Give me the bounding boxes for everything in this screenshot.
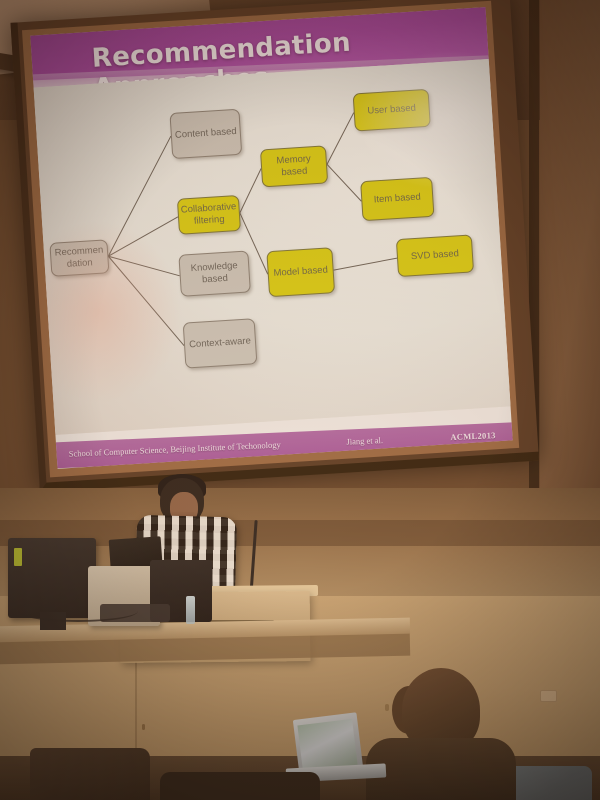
footer-authors: Jiang et al.: [346, 435, 383, 447]
footer-affiliation: School of Computer Science, Beijing Inst…: [68, 439, 280, 458]
seat-left: [30, 748, 150, 800]
diagram-node-model: Model based: [266, 247, 335, 297]
projection-screen: Recommendation Approaches Recommen datio…: [10, 0, 539, 492]
wall-screw: [142, 724, 145, 730]
footer-venue: ACML2013: [450, 430, 496, 442]
audience-body: [366, 738, 516, 800]
wall-outlet: [540, 690, 557, 702]
diagram-node-knowledge: Knowledge based: [178, 250, 250, 296]
desk-cable: [18, 600, 138, 622]
diagram-node-context: Context-aware: [183, 318, 258, 368]
diagram-node-recommendation: Recommen dation: [49, 239, 109, 277]
foreground-object: [160, 772, 320, 800]
diagram-node-memory: Memory based: [260, 145, 328, 187]
right-wall: [540, 0, 600, 500]
presentation-slide: Recommendation Approaches Recommen datio…: [30, 7, 512, 469]
diagram-node-item: Item based: [360, 177, 434, 221]
wall-screw: [385, 704, 389, 711]
diagram-node-svd: SVD based: [396, 234, 474, 277]
photo-scene: Recommendation Approaches Recommen datio…: [0, 0, 600, 800]
diagram-node-collaborative: Collaborative filtering: [177, 195, 241, 235]
audience-laptop-screen: [297, 719, 357, 771]
diagram-node-user: User based: [353, 89, 431, 132]
diagram-node-content: Content based: [169, 109, 242, 159]
water-bottle: [186, 596, 195, 624]
monitor-sticker: [14, 548, 22, 566]
